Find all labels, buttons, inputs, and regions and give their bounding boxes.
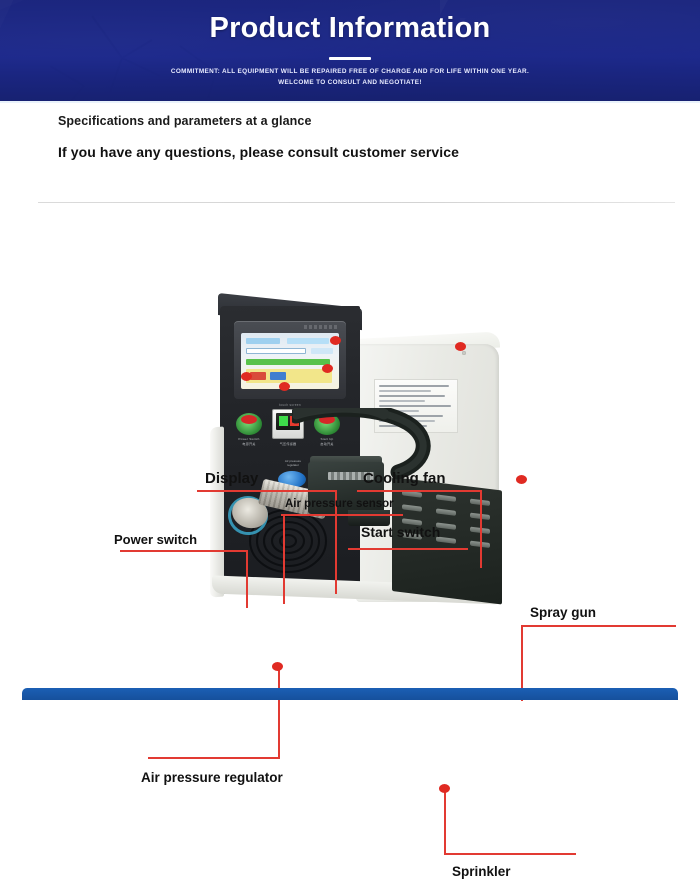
leader-power-switch-vertical bbox=[246, 550, 248, 608]
callout-label-start-switch: Start switch bbox=[361, 524, 440, 540]
banner-bottom-edge bbox=[0, 101, 700, 103]
leader-sprinkler-horizontal bbox=[444, 853, 576, 855]
commitment-text: COMMITMENT: ALL EQUIPMENT WILL BE REPAIR… bbox=[0, 66, 700, 88]
display-bezel bbox=[234, 321, 346, 399]
leader-cooling-fan-vertical bbox=[480, 490, 482, 568]
leader-cooling-fan-horizontal bbox=[357, 490, 482, 492]
callout-label-cooling-fan: Cooling fan bbox=[363, 470, 446, 487]
callout-dot-air-pressure-sensor bbox=[279, 382, 290, 391]
callout-dot-sprinkler bbox=[439, 784, 450, 793]
machine-left-edge bbox=[210, 427, 224, 598]
intro-line-specifications: Specifications and parameters at a glanc… bbox=[58, 114, 658, 128]
callout-label-air-pressure-sensor: Air pressure sensor bbox=[285, 498, 394, 510]
callout-label-air-pressure-regulator: Air pressure regulator bbox=[141, 770, 283, 785]
display-caption: touch screen bbox=[234, 403, 346, 407]
intro-line-customer-service: If you have any questions, please consul… bbox=[58, 144, 658, 160]
leader-start-switch-horizontal bbox=[348, 548, 468, 550]
title-underline-rule bbox=[329, 57, 371, 60]
commitment-line-2: WELCOME TO CONSULT AND NEGOTIATE! bbox=[0, 77, 700, 88]
leader-regulator-horizontal bbox=[148, 757, 280, 759]
callout-label-sprinkler: Sprinkler bbox=[452, 864, 511, 879]
callout-dot-spray-gun bbox=[516, 475, 527, 484]
callout-dot-start-switch bbox=[322, 364, 333, 373]
footer-bar bbox=[22, 688, 678, 700]
callout-dot-display bbox=[330, 336, 341, 345]
leader-power-switch-horizontal bbox=[120, 550, 248, 552]
leader-spray-gun-horizontal bbox=[521, 625, 676, 627]
callout-label-power-switch: Power switch bbox=[114, 532, 197, 547]
callout-dot-air-pressure-regulator bbox=[272, 662, 283, 671]
page-banner: Product Information COMMITMENT: ALL EQUI… bbox=[0, 0, 700, 103]
intro-text-block: Specifications and parameters at a glanc… bbox=[58, 114, 658, 160]
display-brand-mark bbox=[304, 325, 338, 329]
callout-dot-cooling-fan bbox=[455, 342, 466, 351]
leader-display-horizontal bbox=[197, 490, 337, 492]
leader-sensor-vertical bbox=[283, 514, 285, 604]
leader-sprinkler-vertical bbox=[444, 789, 446, 855]
commitment-line-1: COMMITMENT: ALL EQUIPMENT WILL BE REPAIR… bbox=[0, 66, 700, 77]
callout-label-display: Display bbox=[205, 470, 258, 487]
product-diagram: touch screen Power Switch电源开关 气压传感器 Star… bbox=[0, 222, 700, 667]
power-switch-button[interactable] bbox=[236, 413, 262, 435]
display-screen[interactable] bbox=[241, 333, 339, 389]
power-switch-cap bbox=[241, 415, 257, 424]
page-title: Product Information bbox=[0, 12, 700, 45]
leader-regulator-vertical bbox=[278, 666, 280, 759]
callout-dot-power-switch bbox=[241, 372, 252, 381]
leader-sensor-horizontal bbox=[281, 514, 403, 516]
section-divider bbox=[38, 202, 675, 203]
shell-screw bbox=[462, 351, 466, 355]
callout-label-spray-gun: Spray gun bbox=[530, 605, 596, 620]
